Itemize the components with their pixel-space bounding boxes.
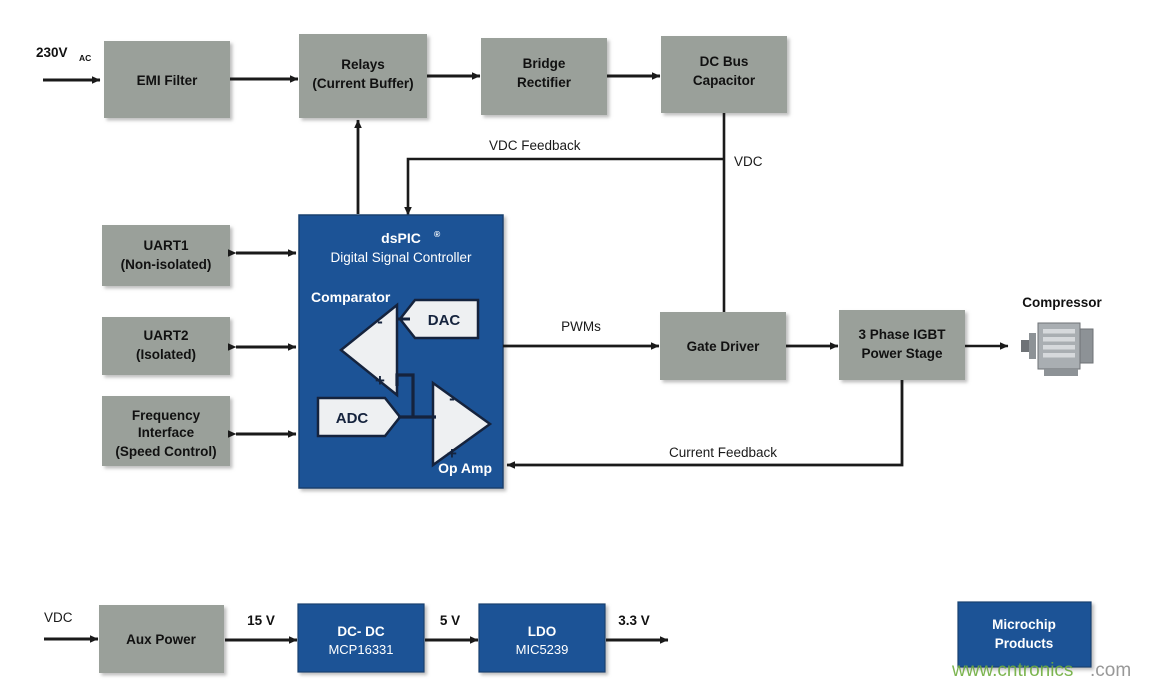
block-frequency-interface[interactable]: Frequency Interface (Speed Control): [102, 396, 230, 466]
block-uart1-label-1: UART1: [143, 238, 188, 253]
block-dc-dc-label: DC- DC: [337, 624, 384, 639]
block-ldo[interactable]: LDO MIC5239: [479, 604, 605, 672]
label-pwms: PWMs: [561, 319, 601, 334]
dspic-title: dsPIC: [381, 230, 421, 246]
label-vdc-feedback: VDC Feedback: [489, 138, 581, 153]
dspic-subtitle: Digital Signal Controller: [330, 250, 472, 265]
comparator-plus-sign: +: [375, 371, 385, 390]
legend-label-1: Microchip: [992, 617, 1056, 632]
wire-pwms: PWMs: [503, 319, 659, 346]
wire-current-feedback: Current Feedback: [507, 380, 902, 465]
comparator-minus-sign: -: [377, 312, 383, 331]
input-voltage-subscript: AC: [79, 53, 91, 63]
block-gate-driver-label: Gate Driver: [687, 339, 761, 354]
block-dc-dc-part: MCP16331: [328, 642, 393, 657]
block-frequency-interface-label-1: Frequency: [132, 408, 201, 423]
block-aux-power[interactable]: Aux Power: [99, 605, 224, 673]
block-dc-bus-capacitor-label-2: Capacitor: [693, 73, 756, 88]
block-ldo-label: LDO: [528, 624, 557, 639]
block-gate-driver[interactable]: Gate Driver: [660, 312, 786, 380]
block-relays[interactable]: Relays (Current Buffer): [299, 34, 427, 118]
block-uart1[interactable]: UART1 (Non-isolated): [102, 225, 230, 286]
block-diagram: 230V AC EMI Filter Relays (Current Buffe…: [0, 0, 1150, 680]
block-emi-filter[interactable]: EMI Filter: [104, 41, 230, 118]
block-bridge-rectifier-label-2: Rectifier: [517, 75, 572, 90]
block-relays-label-2: (Current Buffer): [312, 76, 413, 91]
opamp-plus-sign: +: [447, 444, 457, 463]
dac-symbol: DAC: [400, 300, 478, 338]
block-uart1-label-2: (Non-isolated): [121, 257, 212, 272]
comparator-caption: Comparator: [311, 289, 391, 305]
label-rail-5v: 5 V: [440, 613, 460, 628]
block-uart2[interactable]: UART2 (Isolated): [102, 317, 230, 375]
block-aux-power-label: Aux Power: [126, 632, 197, 647]
watermark-text-suffix: .com: [1090, 660, 1131, 680]
block-dc-bus-capacitor-label-1: DC Bus: [700, 54, 749, 69]
block-frequency-interface-label-2: Interface: [138, 425, 195, 440]
supply-input-label: VDC: [44, 610, 73, 625]
block-dspic-controller[interactable]: dsPIC ® Digital Signal Controller Compar…: [299, 215, 503, 488]
block-relays-label-1: Relays: [341, 57, 385, 72]
diagram-canvas: 230V AC EMI Filter Relays (Current Buffe…: [0, 0, 1150, 680]
block-emi-filter-label: EMI Filter: [137, 73, 199, 88]
legend-label-2: Products: [995, 636, 1054, 651]
block-uart2-label-2: (Isolated): [136, 347, 196, 362]
input-voltage-label: 230V: [36, 45, 68, 60]
block-frequency-interface-label-3: (Speed Control): [115, 444, 216, 459]
block-ldo-part: MIC5239: [516, 642, 569, 657]
block-dc-dc[interactable]: DC- DC MCP16331: [298, 604, 424, 672]
block-igbt-label-1: 3 Phase IGBT: [858, 327, 946, 342]
compressor-group[interactable]: Compressor: [1021, 295, 1103, 376]
block-bridge-rectifier[interactable]: Bridge Rectifier: [481, 38, 607, 115]
motor-icon: [1021, 323, 1093, 376]
dac-label: DAC: [428, 312, 461, 329]
supply-input: VDC: [44, 610, 98, 639]
block-igbt-power-stage[interactable]: 3 Phase IGBT Power Stage: [839, 310, 965, 380]
adc-symbol: ADC: [318, 398, 400, 436]
wire-5v: 5 V: [425, 613, 478, 640]
block-dc-bus-capacitor[interactable]: DC Bus Capacitor: [661, 36, 787, 113]
dspic-title-superscript: ®: [434, 229, 441, 239]
label-rail-3v3: 3.3 V: [618, 613, 650, 628]
label-current-feedback: Current Feedback: [669, 445, 777, 460]
legend-microchip-products[interactable]: Microchip Products: [958, 602, 1091, 667]
block-bridge-rectifier-label-1: Bridge: [523, 56, 566, 71]
adc-label: ADC: [336, 410, 369, 427]
watermark-text-primary: www.cntronics: [951, 660, 1073, 680]
opamp-minus-sign: -: [449, 389, 455, 408]
watermark: www.cntronics .com: [951, 660, 1131, 680]
block-igbt-label-2: Power Stage: [861, 346, 943, 361]
wire-vdc-bus: VDC: [724, 113, 763, 322]
input-230vac: 230V AC: [36, 45, 100, 80]
compressor-label: Compressor: [1022, 295, 1102, 310]
label-rail-15v: 15 V: [247, 613, 275, 628]
block-uart2-label-1: UART2: [143, 328, 188, 343]
wire-15v: 15 V: [225, 613, 297, 640]
label-vdc: VDC: [734, 154, 763, 169]
wire-vdc-feedback: VDC Feedback: [408, 138, 724, 215]
wire-3v3: 3.3 V: [606, 613, 668, 640]
